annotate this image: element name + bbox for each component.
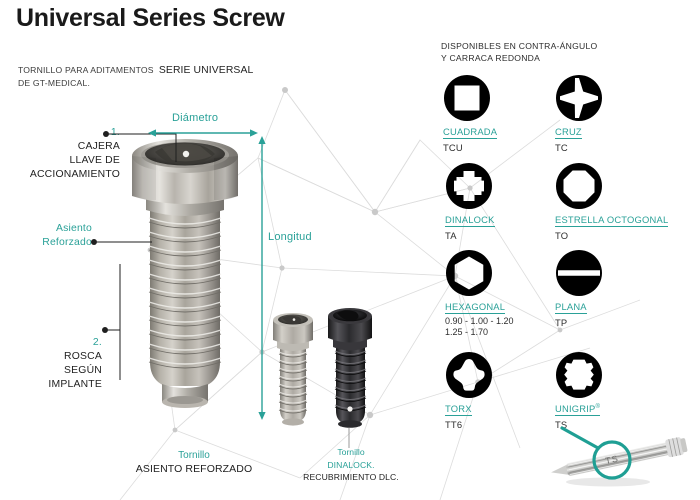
drive-name-torx: TORX xyxy=(445,403,472,416)
drive-name-plana: PLANA xyxy=(555,301,587,314)
drive-option-estrella-octogonal[interactable]: ESTRELLA OCTOGONAL TO xyxy=(555,162,668,241)
dimension-arrow-diameter xyxy=(148,126,258,140)
caption-dinalock-detail2: RECUBRIMIENTO DLC. xyxy=(286,471,416,484)
drive-code-dinalock: TA xyxy=(445,230,495,241)
square-drive-icon xyxy=(443,74,491,122)
drive-name-unigrip: UNIGRIP® xyxy=(555,403,600,416)
drive-name-cruz: CRUZ xyxy=(555,126,582,139)
drive-code-torx: TT6 xyxy=(445,419,493,430)
callout-asiento-line1: Asiento xyxy=(14,222,92,236)
intro-line1-plain: TORNILLO PARA ADITAMENTOS xyxy=(18,65,154,75)
callout-rosca-line3: IMPLANTE xyxy=(10,378,102,392)
hex-drive-icon xyxy=(445,249,493,297)
availability-header: DISPONIBLES EN CONTRA-ÁNGULO Y CARRACA R… xyxy=(441,41,597,64)
drive-code-estrella-octogonal: TO xyxy=(555,230,668,241)
dimension-label-diameter: Diámetro xyxy=(172,112,218,124)
drive-sizes-hexagonal: 0.90 - 1.00 - 1.20 1.25 - 1.70 xyxy=(445,316,514,338)
callout-cajera-line3: ACCIONAMIENTO xyxy=(10,168,120,182)
drive-option-dinalock[interactable]: DINALOCK TA xyxy=(445,162,495,241)
poster-canvas: Universal Series Screw TORNILLO PARA ADI… xyxy=(0,0,700,500)
dinalock-drive-icon xyxy=(445,162,493,210)
small-titanium-screw-illustration xyxy=(268,310,318,435)
drive-name-hexagonal: HEXAGONAL xyxy=(445,301,505,314)
page-title: Universal Series Screw xyxy=(16,4,285,33)
dimension-arrow-length xyxy=(255,136,269,420)
drive-name-cuadrada: CUADRADA xyxy=(443,126,497,139)
screwdriver-tool-illustration: TS xyxy=(538,420,700,500)
slot-drive-icon xyxy=(555,249,603,297)
intro-line2: DE GT-MEDICAL. xyxy=(18,77,253,89)
drive-code-cuadrada: TCU xyxy=(443,142,497,153)
drive-option-torx[interactable]: TORX TT6 xyxy=(445,351,493,430)
drive-code-cruz: TC xyxy=(555,142,603,153)
callout-rosca-line2: SEGÚN xyxy=(10,364,102,378)
torx-drive-icon xyxy=(445,351,493,399)
dimension-label-length: Longitud xyxy=(268,231,312,243)
caption-dinalock-detail1: DINALOCK. xyxy=(286,459,416,472)
leader-line-asiento xyxy=(90,232,160,252)
unigrip-drive-icon xyxy=(555,351,603,399)
drive-option-cruz[interactable]: CRUZ TC xyxy=(555,74,603,153)
availability-line1: DISPONIBLES EN CONTRA-ÁNGULO xyxy=(441,41,597,53)
drive-option-plana[interactable]: PLANA TP xyxy=(555,249,603,328)
availability-line2: Y CARRACA REDONDA xyxy=(441,53,597,65)
callout-rosca: 2. ROSCA SEGÚN IMPLANTE xyxy=(10,336,102,392)
drive-name-estrella-octogonal: ESTRELLA OCTOGONAL xyxy=(555,214,668,227)
caption-main-screw: Tornillo ASIENTO REFORZADO xyxy=(104,450,284,475)
registered-mark: ® xyxy=(595,404,600,410)
caption-main-screw-title: Tornillo xyxy=(104,450,284,463)
caption-dinalock-title: Tornillo xyxy=(286,446,416,459)
drive-code-plana: TP xyxy=(555,317,603,328)
drive-option-hexagonal[interactable]: HEXAGONAL 0.90 - 1.00 - 1.20 1.25 - 1.70 xyxy=(445,249,514,338)
small-dinalock-dlc-screw-illustration xyxy=(322,305,378,437)
caption-dinalock-screw: Tornillo DINALOCK. RECUBRIMIENTO DLC. xyxy=(286,446,416,484)
callout-rosca-line1: ROSCA xyxy=(10,350,102,364)
drive-name-unigrip-text: UNIGRIP xyxy=(555,403,595,414)
octagon-drive-icon xyxy=(555,162,603,210)
leader-line-rosca xyxy=(100,262,140,382)
intro-text-block: TORNILLO PARA ADITAMENTOS SERIE UNIVERSA… xyxy=(18,64,253,89)
drive-name-dinalock: DINALOCK xyxy=(445,214,495,227)
cross-drive-icon xyxy=(555,74,603,122)
intro-line1-strong: SERIE UNIVERSAL xyxy=(159,65,253,76)
drive-option-cuadrada[interactable]: CUADRADA TCU xyxy=(443,74,497,153)
leader-line-dinalock-caption xyxy=(346,428,352,448)
callout-rosca-number: 2. xyxy=(10,336,102,350)
drive-option-unigrip[interactable]: UNIGRIP® TS xyxy=(555,351,603,430)
callout-asiento-reforzado: Asiento Reforzado xyxy=(14,222,92,250)
caption-main-screw-detail: ASIENTO REFORZADO xyxy=(104,463,284,476)
callout-asiento-line2: Reforzado xyxy=(14,236,92,250)
